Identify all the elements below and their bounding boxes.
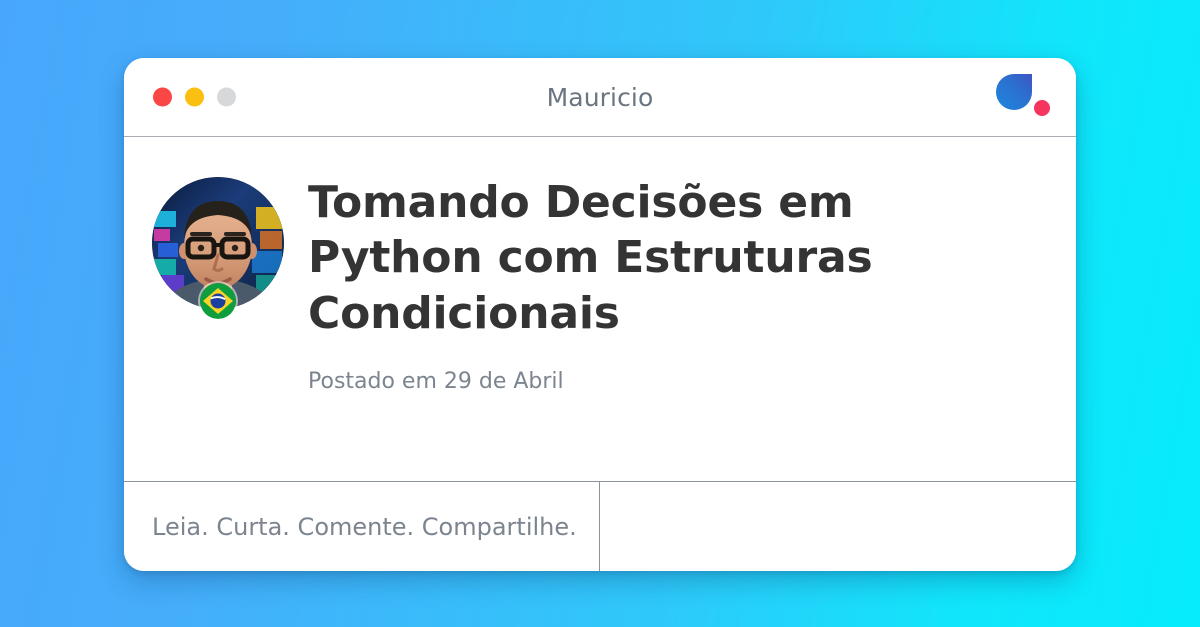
card-footer: Leia. Curta. Comente. Compartilhe. xyxy=(124,482,1076,571)
window-controls xyxy=(153,88,236,107)
share-card-canvas: Mauricio xyxy=(0,0,1200,627)
window-titlebar: Mauricio xyxy=(124,58,1076,137)
app-window-card: Mauricio xyxy=(124,58,1076,571)
minimize-button[interactable] xyxy=(185,88,204,107)
avatar xyxy=(152,177,284,309)
post-text-column: Tomando Decisões em Python com Estrutura… xyxy=(308,173,1036,394)
footer-empty-cell xyxy=(600,482,1076,571)
maximize-button[interactable] xyxy=(217,88,236,107)
footer-tagline: Leia. Curta. Comente. Compartilhe. xyxy=(152,513,577,541)
close-button[interactable] xyxy=(153,88,172,107)
brand-droplet-logo xyxy=(994,70,1056,124)
page-title: Tomando Decisões em Python com Estrutura… xyxy=(308,175,888,341)
footer-tagline-cell: Leia. Curta. Comente. Compartilhe. xyxy=(124,482,600,571)
brazil-flag-icon xyxy=(200,283,236,319)
window-title: Mauricio xyxy=(124,83,1076,112)
post-date: Postado em 29 de Abril xyxy=(308,369,1036,394)
post-preview-body: Tomando Decisões em Python com Estrutura… xyxy=(124,137,1076,482)
